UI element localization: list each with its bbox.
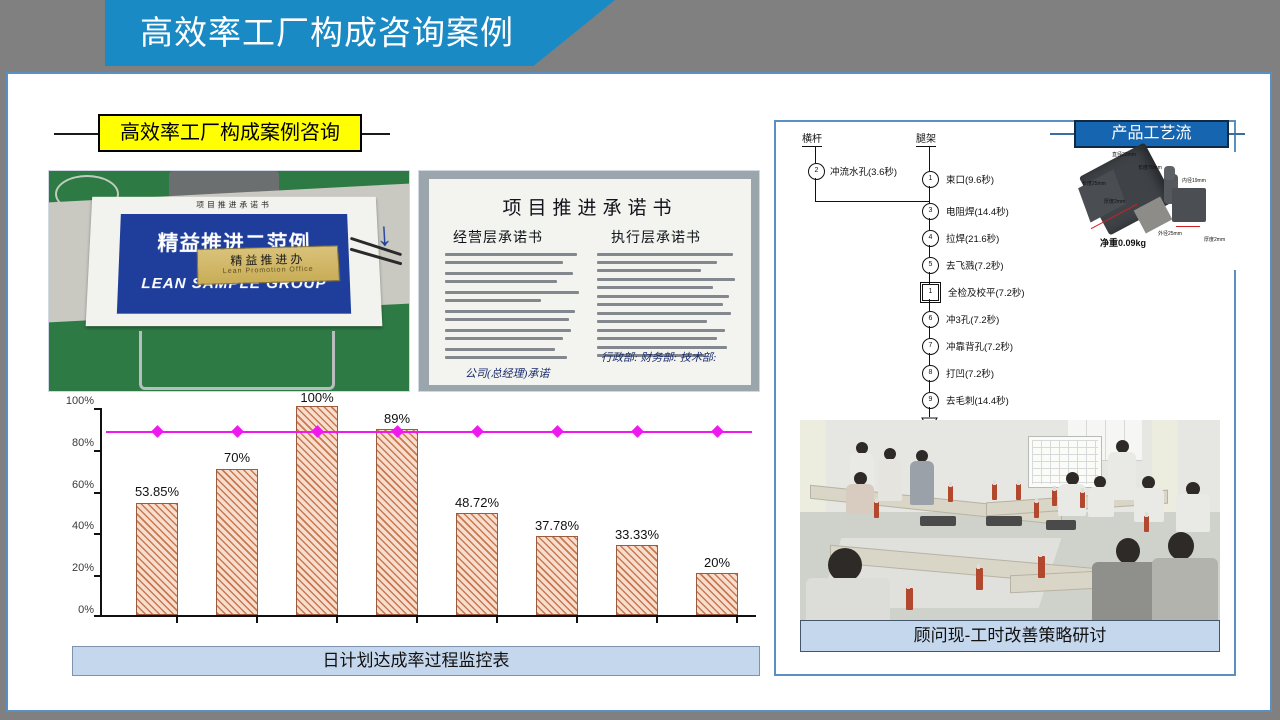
sign-board: 项目推进承诺书 ↓ ↓ 精益推进二范例 LEAN SAMPLE GROUP 精益…: [86, 197, 383, 326]
x-tick: [176, 617, 178, 623]
x-tick: [656, 617, 658, 623]
flow-step-label: 电阻焊(14.4秒): [946, 204, 1009, 218]
flow-step-label: 束口(9.6秒): [946, 172, 994, 186]
x-tick: [576, 617, 578, 623]
flow-node[interactable]: 2: [808, 163, 825, 180]
flow-step-label: 全检及校平(7.2秒): [948, 285, 1025, 299]
flow-node[interactable]: 4: [922, 230, 939, 247]
y-tick-label: 0%: [52, 604, 94, 616]
slide-canvas: 高效率工厂构成案例咨询 项目推进承诺书 ↓ ↓ 精益推进二范例 LEAN SAM…: [6, 72, 1272, 712]
person-head: [828, 548, 862, 582]
y-tick-label: 80%: [52, 437, 94, 449]
flow-step-label: 去飞溅(7.2秒): [946, 258, 1004, 272]
flow-step-label: 去毛刺(14.4秒): [946, 393, 1009, 407]
branch-header-legframe: 腿架: [916, 130, 936, 147]
bar-value-label: 53.85%: [109, 484, 205, 499]
section-rule-left: [54, 133, 98, 135]
dimension-label: 长度70mm: [1138, 164, 1162, 171]
y-tick: [94, 408, 100, 410]
flow-node-inspection[interactable]: 1: [922, 284, 939, 301]
photo-commitment-poster: 项目推进承诺书 经营层承诺书 执行层承诺书 行政部: 财务部: 技术部: [418, 170, 760, 392]
product-part-tip: [1164, 166, 1175, 180]
process-flow-diagram: 横杆 腿架 2 冲流水孔(3.6秒) 1 束口(9.6秒) 3 电阻焊(14.4…: [780, 130, 1080, 400]
poster-column-left-title: 经营层承诺书: [453, 227, 543, 247]
dimension-label: 厚度2mm: [1204, 236, 1225, 243]
net-weight-label: 净重0.09kg: [1100, 236, 1146, 249]
flow-connector: [929, 353, 930, 365]
bar-value-label: 20%: [669, 555, 765, 570]
process-title-group: 产品工艺流: [1064, 120, 1234, 152]
table-legs: [139, 331, 335, 390]
dimension-label: 外径25mm: [1158, 230, 1182, 237]
target-marker: [631, 425, 644, 438]
dimension-label: 直径22mm: [1112, 151, 1136, 158]
table-row[interactable]: [136, 503, 178, 616]
bar-value-label: 48.72%: [429, 495, 525, 510]
bottle: [874, 502, 879, 518]
bottle: [1034, 502, 1039, 518]
y-tick: [94, 615, 100, 617]
flow-connector: [929, 218, 930, 230]
flow-node[interactable]: 8: [922, 365, 939, 382]
whiteboard: [1028, 436, 1102, 488]
flow-step-label: 冲流水孔(3.6秒): [830, 164, 897, 178]
chart-y-axis-labels: 100% 80% 60% 40% 20% 0%: [48, 402, 94, 617]
person-body: [806, 578, 890, 624]
flow-connector: [929, 326, 930, 338]
process-rule-right: [1227, 133, 1245, 135]
bottle: [992, 484, 997, 500]
bottle: [1080, 492, 1085, 508]
board-title: 项目推进承诺书: [92, 200, 377, 211]
target-line: [106, 431, 752, 433]
bottle: [948, 486, 953, 502]
flow-connector: [929, 407, 930, 417]
table-row[interactable]: [456, 513, 498, 615]
bottle: [976, 568, 983, 590]
flow-connector: [929, 380, 930, 392]
person-body: [910, 461, 934, 505]
y-tick: [94, 575, 100, 577]
flow-connector: [815, 178, 816, 201]
table-row[interactable]: [376, 429, 418, 615]
process-title: 产品工艺流: [1074, 120, 1229, 148]
flow-connector: [929, 299, 930, 311]
dimension-label: 长度25mm: [1082, 180, 1106, 187]
person-body: [1152, 558, 1218, 624]
flow-connector: [929, 245, 930, 257]
target-marker: [471, 425, 484, 438]
poster-title: 项目推进承诺书: [429, 193, 751, 220]
photo-meeting-room: [800, 420, 1220, 624]
x-tick: [416, 617, 418, 623]
y-tick: [94, 450, 100, 452]
bar-value-label: 100%: [269, 390, 365, 405]
flow-node[interactable]: 9: [922, 392, 939, 409]
chair: [1046, 520, 1076, 530]
flow-node[interactable]: 1: [922, 171, 939, 188]
dimension-label: 内径19mm: [1182, 177, 1206, 184]
flow-node[interactable]: 7: [922, 338, 939, 355]
flow-node[interactable]: 5: [922, 257, 939, 274]
person-body: [1134, 488, 1164, 522]
section-label: 高效率工厂构成案例咨询: [98, 114, 362, 152]
table-row[interactable]: [216, 469, 258, 615]
table-row[interactable]: [616, 545, 658, 615]
person-body: [1092, 562, 1158, 624]
target-marker: [231, 425, 244, 438]
poster-column-left-body: [445, 253, 585, 364]
y-tick-label: 20%: [52, 562, 94, 574]
table-row[interactable]: [696, 573, 738, 615]
chart-y-axis: [100, 408, 102, 617]
x-tick: [736, 617, 738, 623]
bottle: [1038, 556, 1045, 578]
gold-plaque: 精益推进办 Lean Promotion Office: [197, 245, 341, 285]
poster-paper: 项目推进承诺书 经营层承诺书 执行层承诺书 行政部: 财务部: 技术部: [429, 179, 751, 385]
flow-node[interactable]: 3: [922, 203, 939, 220]
person-head: [1168, 532, 1194, 560]
y-tick-label: 100%: [52, 395, 94, 407]
bar-value-label: 33.33%: [589, 527, 685, 542]
flow-step-label: 打凹(7.2秒): [946, 366, 994, 380]
chair: [920, 516, 956, 526]
table-row[interactable]: [536, 536, 578, 615]
dimension-line: [1176, 226, 1200, 227]
flow-connector: [815, 146, 816, 163]
meeting-caption: 顾问现-工时改善策略研讨: [800, 620, 1220, 652]
chart-caption: 日计划达成率过程监控表: [72, 646, 760, 676]
page-title: 高效率工厂构成咨询案例: [140, 8, 600, 58]
process-flow-panel: 产品工艺流 横杆 腿架 2 冲流水孔(3.6秒) 1 束口(9.6秒) 3 电阻…: [774, 120, 1236, 676]
flow-node[interactable]: 6: [922, 311, 939, 328]
person-body: [1088, 487, 1114, 517]
photo-commitment-board: 项目推进承诺书 ↓ ↓ 精益推进二范例 LEAN SAMPLE GROUP 精益…: [48, 170, 410, 392]
x-tick: [336, 617, 338, 623]
flow-step-label: 冲3孔(7.2秒): [946, 312, 999, 326]
poster-signature-left: 公司(总经理)承诺: [465, 365, 549, 381]
header-band: 高效率工厂构成咨询案例: [0, 0, 1280, 66]
target-marker: [151, 425, 164, 438]
target-marker: [711, 425, 724, 438]
target-marker: [551, 425, 564, 438]
flow-connector: [929, 146, 930, 171]
poster-column-right-title: 执行层承诺书: [611, 227, 701, 247]
photo-product-part: 直径22mm 长度70mm 长度25mm 厚度2mm 内径19mm 外径25mm…: [1076, 152, 1236, 270]
branch-header-crossbar: 横杆: [802, 130, 822, 147]
bottle: [1016, 484, 1021, 500]
bottle: [1144, 516, 1149, 532]
person-head: [1116, 538, 1140, 564]
y-tick: [94, 533, 100, 535]
flow-step-label: 拉焊(21.6秒): [946, 231, 999, 245]
y-tick-label: 60%: [52, 479, 94, 491]
x-tick: [496, 617, 498, 623]
person-body: [846, 484, 874, 514]
section-label-group: 高效率工厂构成案例咨询: [54, 114, 394, 154]
poster-signature-right: 行政部: 财务部: 技术部:: [601, 349, 717, 365]
person-body: [1176, 494, 1210, 532]
pens-group: [349, 243, 407, 265]
poster-column-right-body: [597, 253, 737, 362]
flow-step-label: 冲靠背孔(7.2秒): [946, 339, 1013, 353]
chart-plot-area: 53.85% 70% 100% 89% 48.72% 37.78% 33.33%…: [100, 408, 756, 617]
chair: [986, 516, 1022, 526]
daily-plan-achievement-chart: 100% 80% 60% 40% 20% 0%: [48, 402, 760, 642]
y-tick-label: 40%: [52, 520, 94, 532]
bar-value-label: 70%: [189, 450, 285, 465]
person-body: [878, 459, 902, 501]
flow-connector: [929, 186, 930, 203]
bottle: [906, 588, 913, 610]
bottle: [1052, 490, 1057, 506]
x-tick: [256, 617, 258, 623]
y-tick: [94, 492, 100, 494]
product-part-small: [1172, 188, 1206, 222]
flow-connector: [815, 201, 929, 202]
dimension-label: 厚度2mm: [1104, 198, 1125, 205]
